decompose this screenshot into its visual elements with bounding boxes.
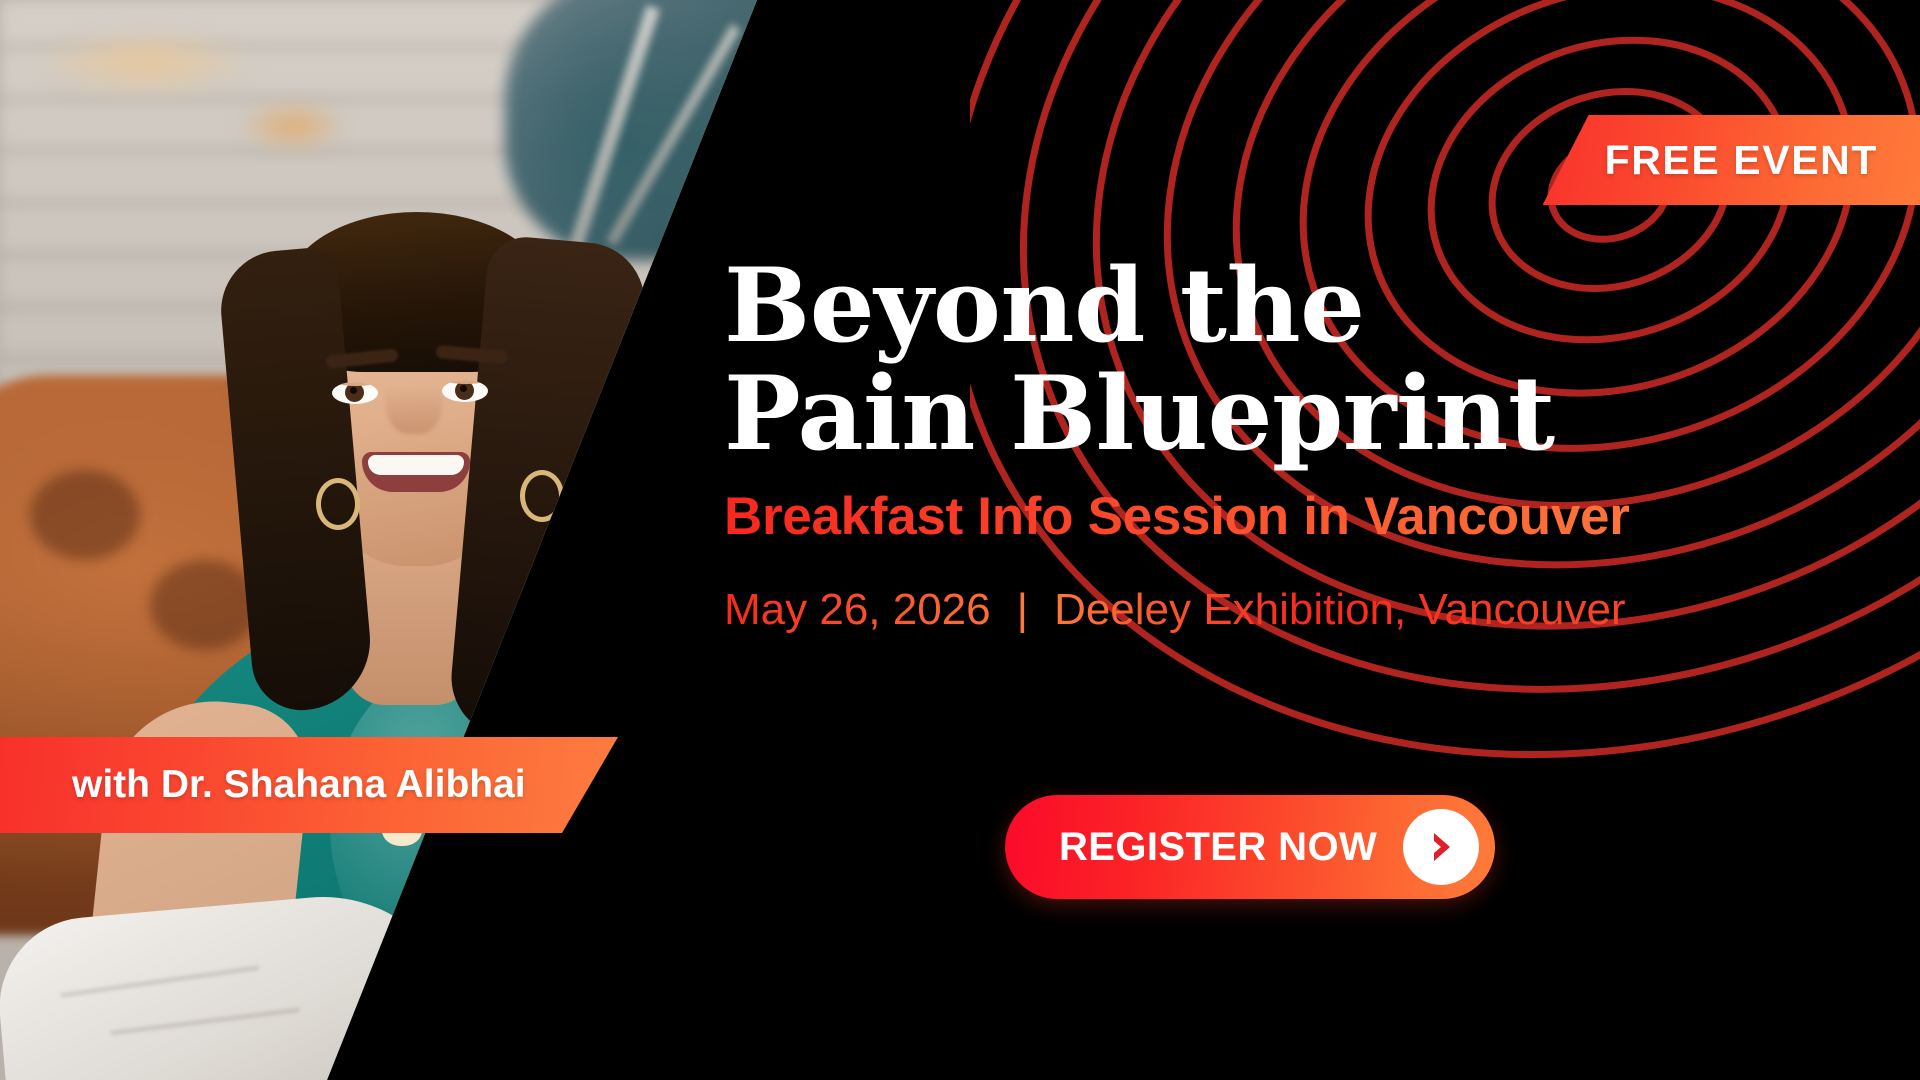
free-event-badge: FREE EVENT	[1543, 115, 1920, 205]
event-copy-block: Beyond the Pain Blueprint Breakfast Info…	[724, 252, 1844, 635]
headline-line-2: Pain Blueprint	[724, 360, 1844, 468]
eye-right	[442, 380, 488, 402]
eyelid-right	[442, 380, 488, 384]
speaker-name-label: with Dr. Shahana Alibhai	[72, 763, 526, 807]
chair-tuft	[30, 470, 140, 560]
wall-texture-a	[30, 28, 260, 98]
event-date: May 26, 2026	[724, 585, 991, 635]
free-event-badge-label: FREE EVENT	[1605, 137, 1878, 184]
chevron-right-icon	[1403, 809, 1479, 885]
register-now-button[interactable]: REGISTER NOW	[1005, 795, 1495, 899]
event-promo-banner: FREE EVENT with Dr. Shahana Alibhai Beyo…	[0, 0, 1920, 1080]
mouth	[362, 452, 470, 492]
wall-texture-b	[238, 100, 348, 152]
nose	[386, 360, 442, 434]
cta-container: REGISTER NOW	[1005, 795, 1495, 899]
eye-left	[332, 382, 378, 404]
event-meta: May 26, 2026 | Deeley Exhibition, Vancou…	[724, 585, 1844, 635]
register-now-label: REGISTER NOW	[1059, 825, 1377, 870]
headline-line-1: Beyond the	[724, 246, 1365, 366]
speaker-name-badge: with Dr. Shahana Alibhai	[0, 737, 618, 833]
page-title: Beyond the Pain Blueprint	[724, 252, 1844, 468]
eyelid-left	[332, 382, 378, 386]
event-subtitle: Breakfast Info Session in Vancouver	[724, 486, 1844, 547]
teeth	[368, 455, 464, 475]
meta-separator: |	[991, 585, 1054, 635]
earring-left	[316, 478, 360, 530]
event-venue: Deeley Exhibition, Vancouver	[1054, 585, 1626, 635]
